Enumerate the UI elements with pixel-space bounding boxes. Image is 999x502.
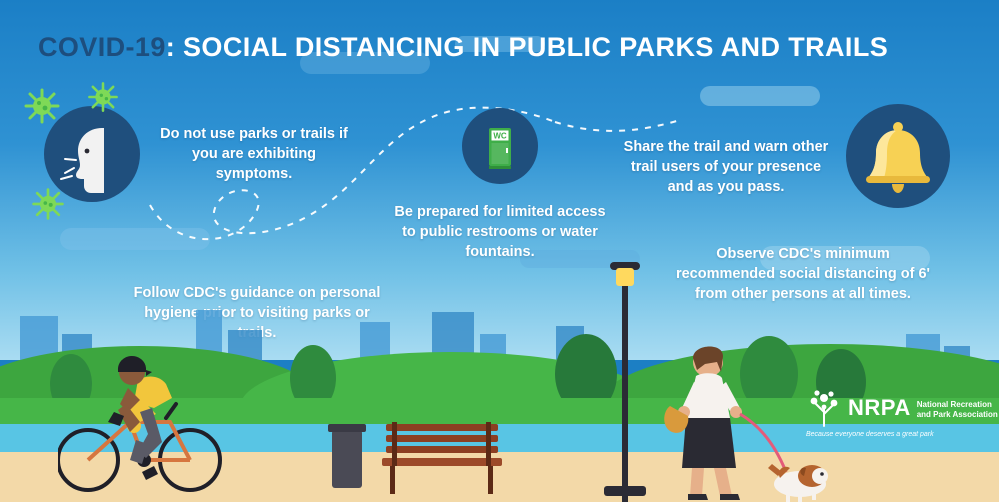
logo-subtitle-line1: National Recreation (917, 400, 998, 410)
tree-logo-icon (806, 388, 842, 428)
callout-symptoms: Do not use parks or trails if you are ex… (156, 124, 352, 184)
logo-tagline: Because everyone deserves a great park (806, 431, 998, 438)
dog-walker-illustration (660, 336, 830, 502)
virus-icon (30, 186, 66, 227)
logo-subtitle-line2: and Park Association (917, 410, 998, 420)
virus-icon (86, 80, 120, 119)
virus-icon (22, 86, 62, 131)
trash-can-lid (328, 424, 366, 432)
cyclist-illustration (58, 336, 238, 502)
trash-can (332, 430, 362, 488)
callout-share-trail: Share the trail and warn other trail use… (618, 137, 834, 197)
callout-distance: Observe CDC's minimum recommended social… (666, 244, 940, 304)
lamp-base (604, 486, 646, 496)
callout-restrooms: Be prepared for limited access to public… (394, 202, 606, 262)
lamp-post (622, 272, 628, 502)
nrpa-logo: NRPA National Recreation and Park Associ… (806, 388, 998, 438)
infographic-canvas: COVID-19: SOCIAL DISTANCING IN PUBLIC PA… (0, 0, 999, 502)
toilet-sign-text: WC (493, 132, 507, 141)
park-bench (380, 418, 508, 502)
portable-toilet-icon: WC (462, 108, 538, 184)
logo-name: NRPA (848, 395, 911, 421)
bell-icon (846, 104, 950, 208)
lamp-light (616, 268, 634, 286)
